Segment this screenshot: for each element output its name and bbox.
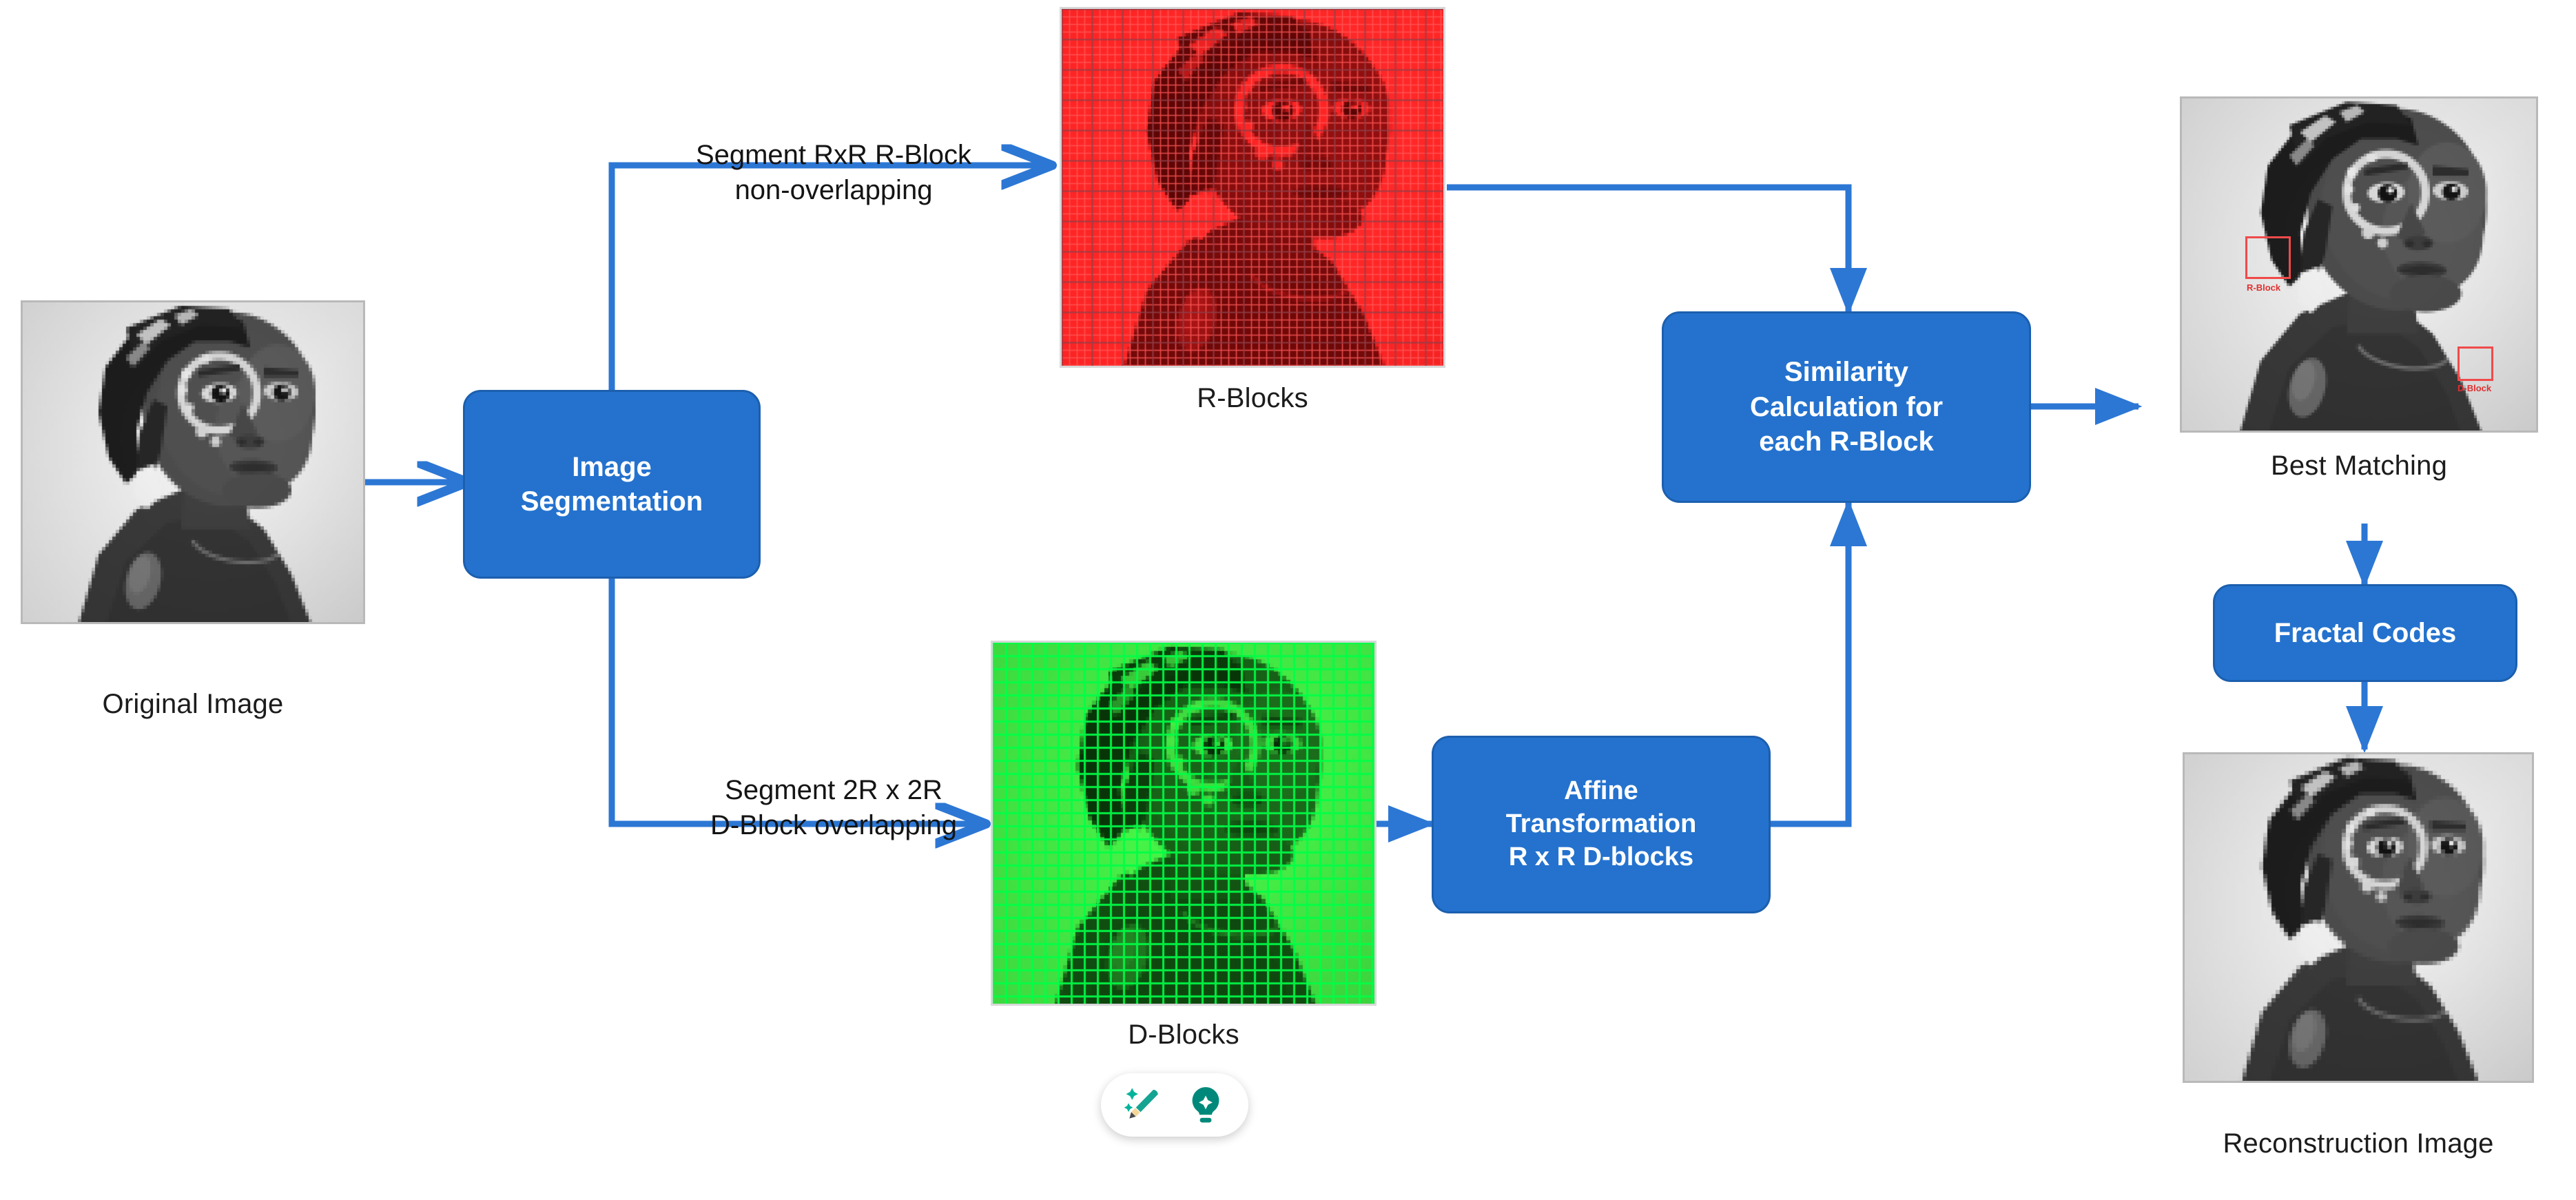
node-fractal-codes-label: Fractal Codes [2274, 616, 2457, 650]
reconstruction-image-caption: Reconstruction Image [2134, 1128, 2576, 1159]
r-blocks-caption: R-Blocks [1060, 383, 1445, 414]
edge-label-segment-r-block: Segment RxR R-Block non-overlapping [627, 138, 1040, 208]
node-image-segmentation[interactable]: Image Segmentation [463, 390, 761, 579]
node-similarity-calculation[interactable]: Similarity Calculation for each R-Block [1662, 311, 2031, 503]
edge-label-segment-d-block: Segment 2R x 2R D-Block overlapping [620, 773, 1047, 843]
annotation-label-r-block: R-Block [2247, 283, 2280, 292]
annotation-label-d-block: D-Block [2457, 384, 2491, 393]
node-affine-transformation[interactable]: Affine Transformation R x R D-blocks [1432, 736, 1771, 913]
annotation-box-d-block [2457, 346, 2493, 381]
diagram-canvas: Original Image Image Segmentation Segmen… [0, 0, 2576, 1200]
lightbulb-idea-icon[interactable] [1184, 1083, 1228, 1127]
r-blocks-thumbnail [1060, 7, 1445, 368]
d-blocks-thumbnail [991, 641, 1377, 1006]
magic-pencil-icon[interactable] [1122, 1083, 1166, 1127]
floating-toolbar[interactable] [1101, 1073, 1248, 1137]
node-affine-transformation-label: Affine Transformation R x R D-blocks [1506, 775, 1697, 874]
reconstruction-image-thumbnail [2183, 752, 2534, 1083]
original-image-caption: Original Image [21, 689, 365, 720]
original-image-thumbnail [21, 300, 365, 624]
node-similarity-calculation-label: Similarity Calculation for each R-Block [1750, 355, 1943, 459]
best-matching-caption: Best Matching [2166, 451, 2552, 482]
annotation-box-r-block [2245, 236, 2291, 279]
best-matching-thumbnail: R-Block D-Block [2180, 96, 2538, 433]
node-image-segmentation-label: Image Segmentation [521, 450, 703, 519]
d-blocks-caption: D-Blocks [991, 1020, 1377, 1051]
node-fractal-codes[interactable]: Fractal Codes [2213, 584, 2517, 682]
